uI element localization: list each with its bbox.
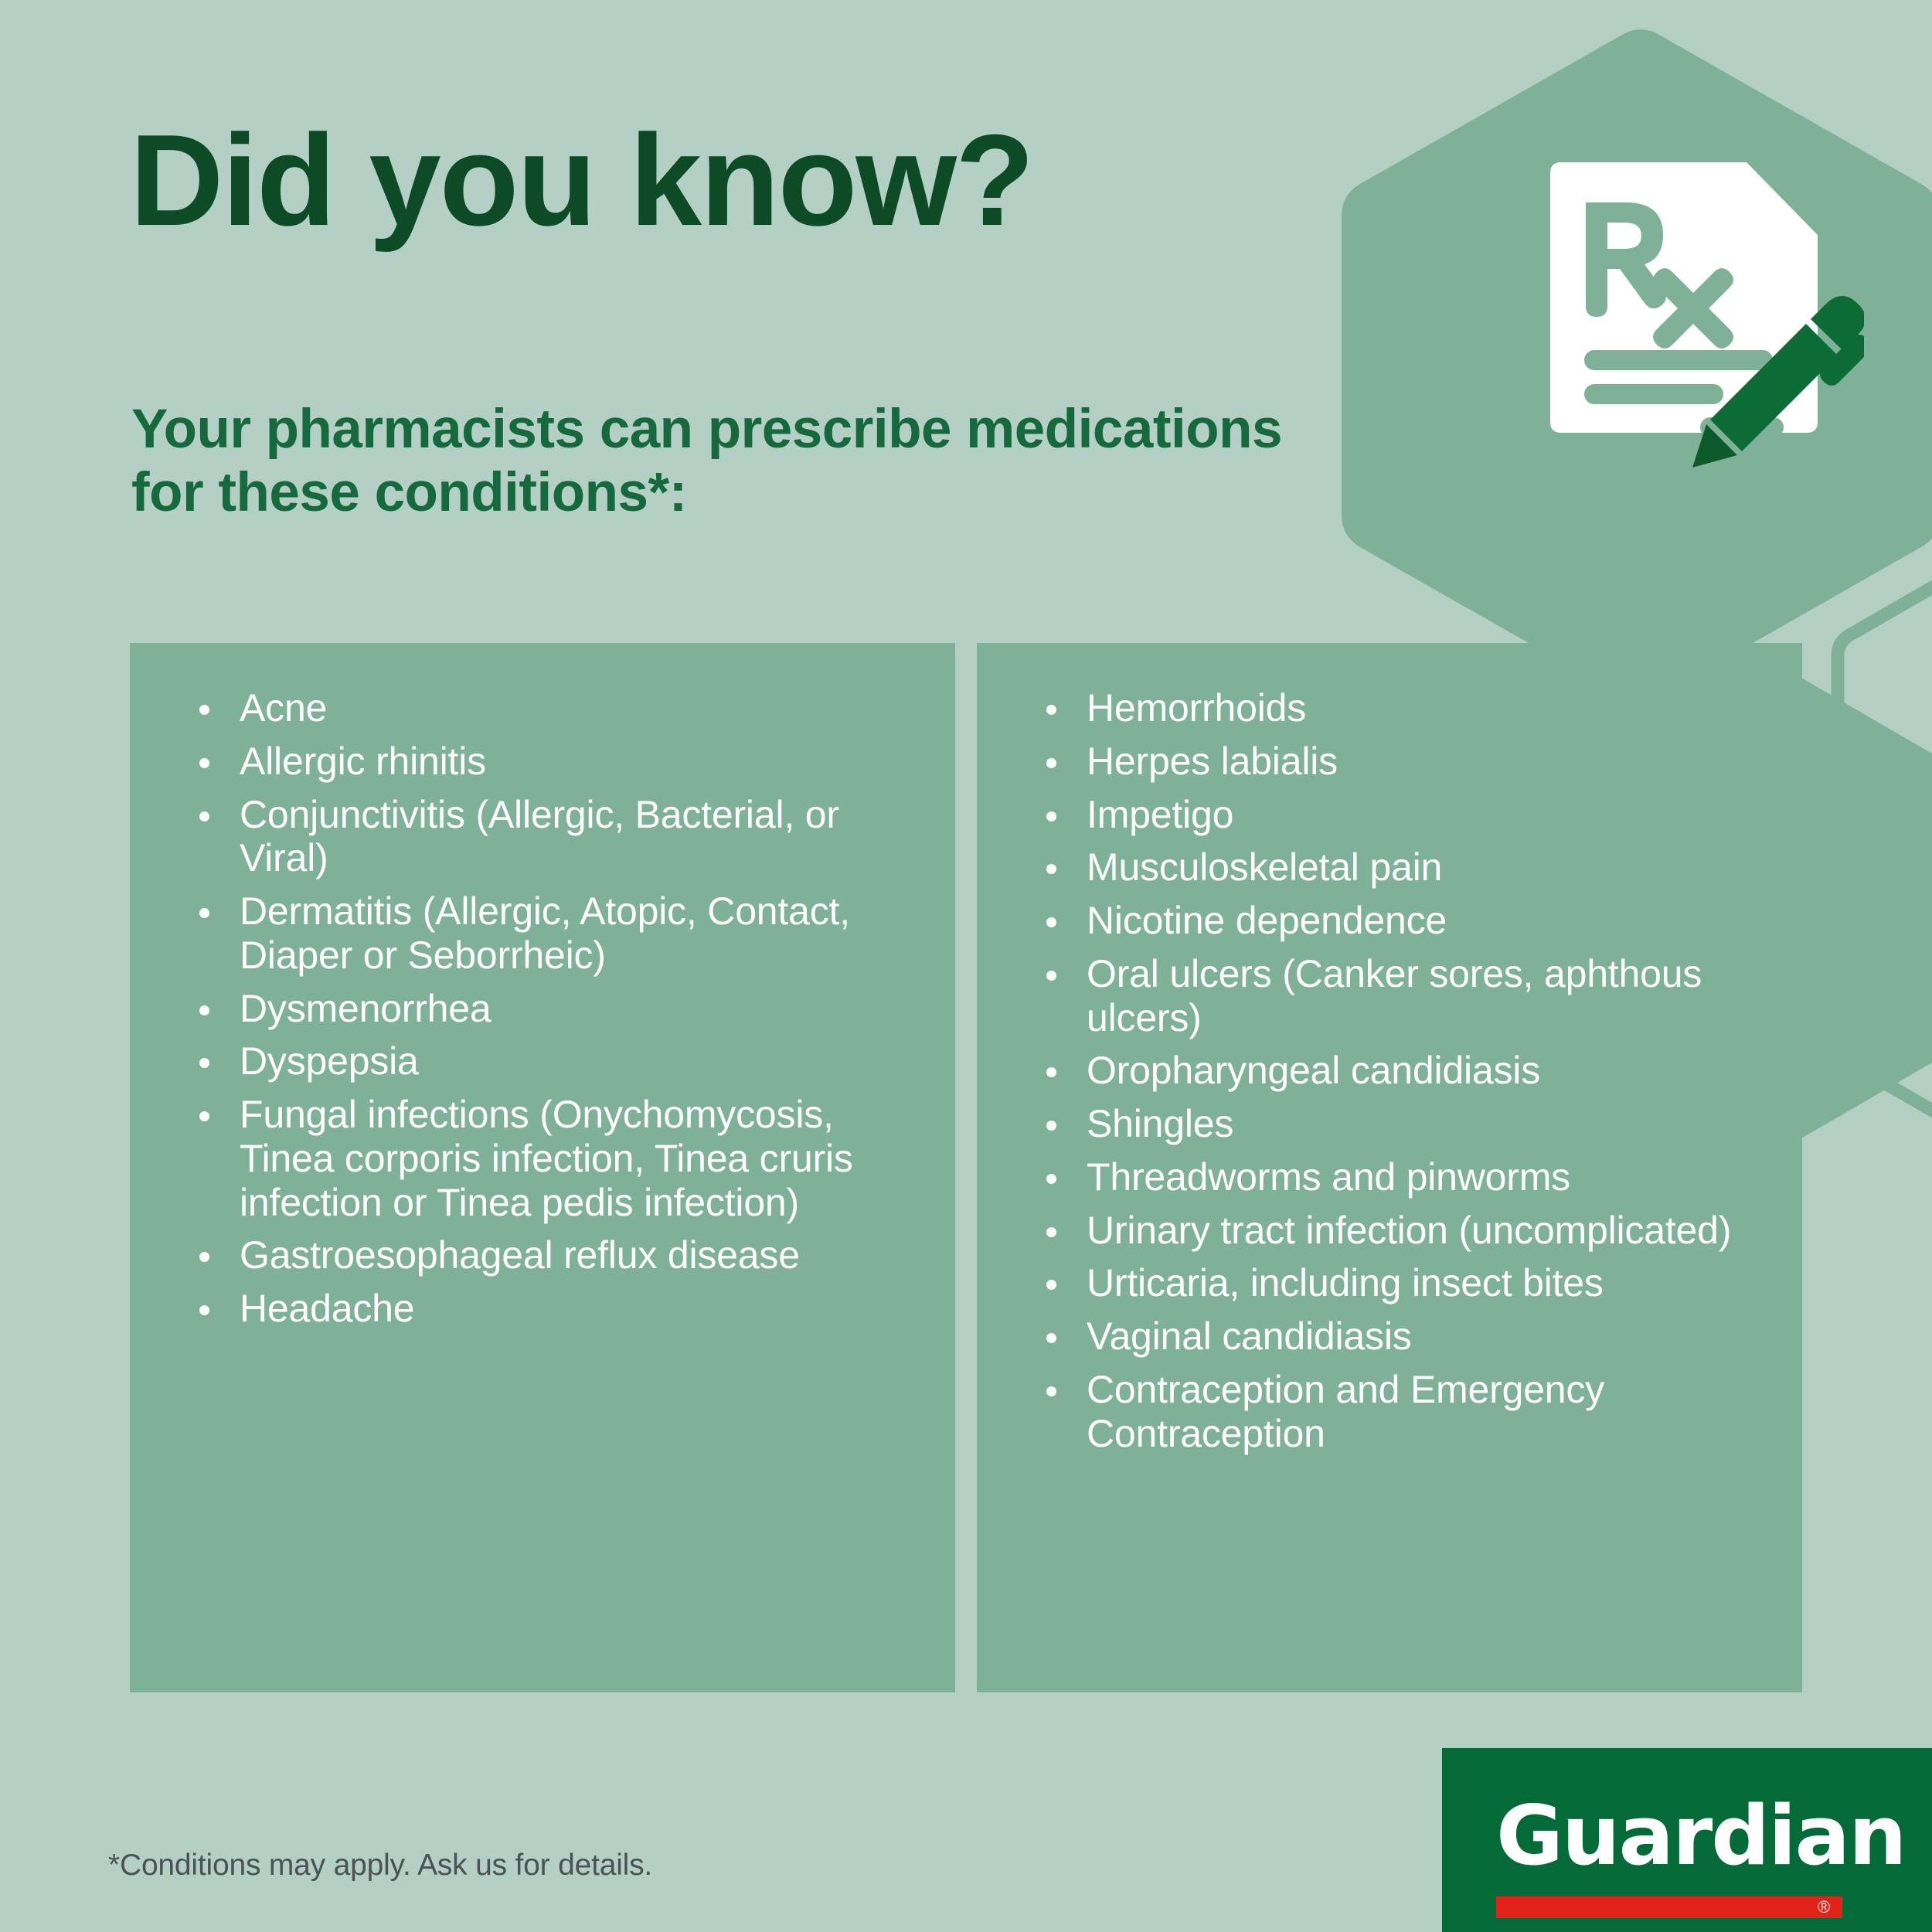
condition-label: Oropharyngeal candidiasis (1087, 1049, 1540, 1092)
conditions-list-left: Acne Allergic rhinitis Conjunctivitis (A… (156, 686, 929, 1331)
condition-label: Acne (240, 686, 327, 730)
condition-label: Vaginal candidiasis (1087, 1315, 1412, 1358)
list-item: Urticaria, including insect bites (1003, 1261, 1776, 1305)
list-item: Dysmenorrhea (156, 987, 929, 1031)
bullet-icon (1046, 705, 1056, 715)
condition-label: Herpes labialis (1087, 740, 1338, 783)
bullet-icon (1046, 971, 1056, 981)
bullet-icon (199, 811, 209, 821)
list-item: Headache (156, 1287, 929, 1331)
bullet-icon (1046, 1067, 1056, 1077)
bullet-icon (1046, 1174, 1056, 1184)
list-item: Conjunctivitis (Allergic, Bacterial, or … (156, 793, 929, 881)
condition-label: Fungal infections (Onychomycosis, Tinea … (240, 1093, 853, 1224)
footnote-disclaimer: *Conditions may apply. Ask us for detail… (108, 1849, 652, 1883)
condition-label: Urinary tract infection (uncomplicated) (1087, 1209, 1731, 1252)
logo-red-rule (1496, 1896, 1842, 1918)
conditions-panel-left: Acne Allergic rhinitis Conjunctivitis (A… (130, 643, 955, 1692)
registered-trademark-icon: ® (1818, 1898, 1830, 1917)
bullet-icon (1046, 1386, 1056, 1396)
bullet-icon (1046, 864, 1056, 874)
condition-label: Gastroesophageal reflux disease (240, 1233, 800, 1277)
list-item: Gastroesophageal reflux disease (156, 1233, 929, 1277)
bullet-icon (1046, 758, 1056, 768)
list-item: Shingles (1003, 1102, 1776, 1146)
rx-prescription-with-pen-icon (1539, 162, 1864, 471)
condition-label: Urticaria, including insect bites (1087, 1261, 1604, 1304)
guardian-wordmark: Guardian (1496, 1788, 1905, 1883)
bullet-icon (199, 1305, 209, 1315)
list-item: Threadworms and pinworms (1003, 1155, 1776, 1199)
bullet-icon (199, 908, 209, 918)
condition-label: Dermatitis (Allergic, Atopic, Contact, D… (240, 889, 850, 977)
conditions-panel-right: Hemorrhoids Herpes labialis Impetigo Mus… (977, 643, 1802, 1692)
bullet-icon (1046, 1280, 1056, 1290)
bullet-icon (1046, 811, 1056, 821)
condition-label: Headache (240, 1287, 414, 1330)
bullet-icon (199, 1111, 209, 1121)
bullet-icon (1046, 917, 1056, 927)
list-item: Dyspepsia (156, 1039, 929, 1083)
list-item: Allergic rhinitis (156, 740, 929, 784)
infographic-poster: Did you know? Your pharmacists can presc… (0, 0, 1932, 1932)
condition-label: Threadworms and pinworms (1087, 1155, 1570, 1199)
guardian-logo: Guardian ® (1442, 1748, 1932, 1932)
bullet-icon (199, 1058, 209, 1068)
list-item: Nicotine dependence (1003, 899, 1776, 943)
page-title: Did you know? (130, 114, 1289, 247)
list-item: Hemorrhoids (1003, 686, 1776, 730)
list-item: Fungal infections (Onychomycosis, Tinea … (156, 1093, 929, 1224)
list-item: Oral ulcers (Canker sores, aphthous ulce… (1003, 952, 1776, 1040)
bullet-icon (1046, 1121, 1056, 1131)
list-item: Contraception and Emergency Contraceptio… (1003, 1368, 1776, 1456)
bullet-icon (1046, 1333, 1056, 1343)
list-item: Herpes labialis (1003, 740, 1776, 784)
paper-line-1 (1584, 350, 1773, 370)
condition-label: Impetigo (1087, 793, 1233, 836)
condition-label: Dyspepsia (240, 1039, 419, 1083)
bullet-icon (199, 1005, 209, 1015)
list-item: Vaginal candidiasis (1003, 1315, 1776, 1359)
list-item: Acne (156, 686, 929, 730)
bullet-icon (199, 705, 209, 715)
condition-label: Shingles (1087, 1102, 1233, 1145)
list-item: Impetigo (1003, 793, 1776, 837)
bullet-icon (199, 758, 209, 768)
condition-label: Oral ulcers (Canker sores, aphthous ulce… (1087, 952, 1702, 1039)
condition-label: Dysmenorrhea (240, 987, 492, 1030)
bullet-icon (199, 1252, 209, 1262)
condition-label: Musculoskeletal pain (1087, 845, 1442, 889)
list-item: Oropharyngeal candidiasis (1003, 1049, 1776, 1093)
condition-label: Hemorrhoids (1087, 686, 1306, 730)
bullet-icon (1046, 1227, 1056, 1237)
condition-label: Conjunctivitis (Allergic, Bacterial, or … (240, 793, 839, 880)
conditions-list-right: Hemorrhoids Herpes labialis Impetigo Mus… (1003, 686, 1776, 1455)
page-subtitle: Your pharmacists can prescribe medicatio… (131, 398, 1306, 526)
condition-label: Allergic rhinitis (240, 740, 486, 783)
list-item: Dermatitis (Allergic, Atopic, Contact, D… (156, 889, 929, 978)
paper-line-2 (1584, 384, 1723, 404)
list-item: Musculoskeletal pain (1003, 845, 1776, 889)
condition-label: Contraception and Emergency Contraceptio… (1087, 1368, 1604, 1455)
list-item: Urinary tract infection (uncomplicated) (1003, 1209, 1776, 1253)
hexagon-outline (1838, 553, 1932, 1145)
condition-label: Nicotine dependence (1087, 899, 1447, 942)
